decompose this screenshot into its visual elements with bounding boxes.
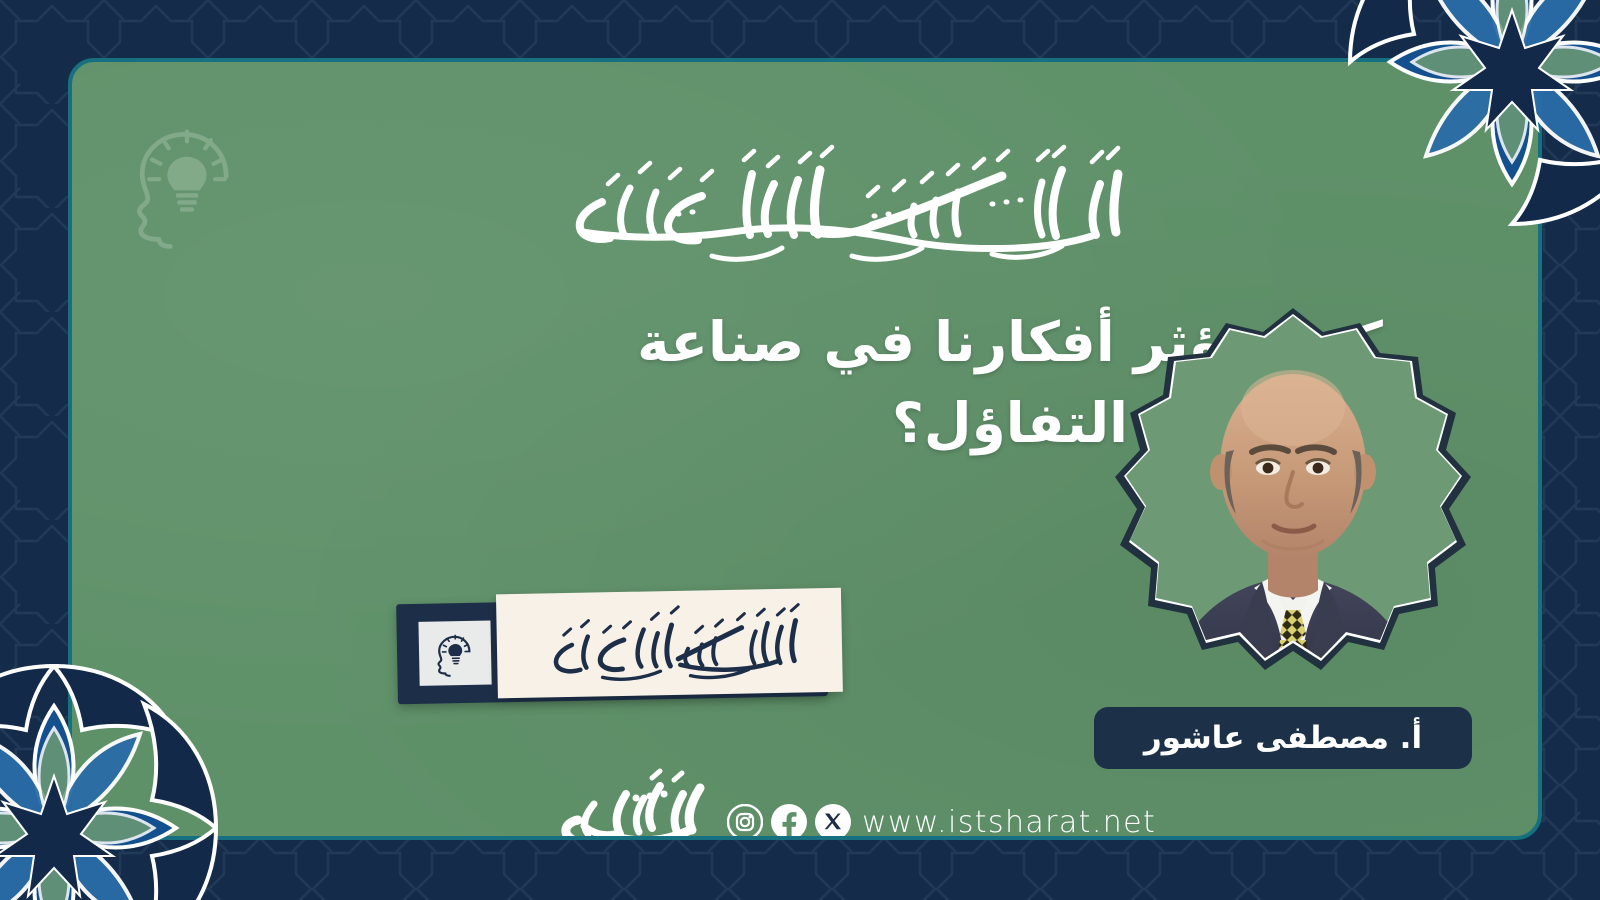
x-twitter-icon[interactable] <box>815 804 851 840</box>
portrait-photo <box>1102 300 1484 700</box>
portal-calligraphy-header: بوابة الاستشارات الإلكترونية <box>402 140 1162 280</box>
social-links <box>727 804 851 840</box>
head-lightbulb-icon <box>431 629 480 678</box>
speaker-name: أ. مصطفى عاشور <box>1144 720 1422 756</box>
rosette-ornament-bottom-left <box>0 648 234 900</box>
instagram-icon[interactable] <box>727 804 763 840</box>
istsharat-fikriya-logo-badge: استشارات فكرية <box>396 588 843 709</box>
main-card: بوابة الاستشارات الإلكترونية <box>68 58 1542 840</box>
logo-badge-calligraphy-panel: استشارات فكرية <box>496 588 843 699</box>
facebook-icon[interactable] <box>771 804 807 840</box>
rosette-ornament-top-right <box>1332 0 1600 242</box>
logo-badge-icon-box <box>418 620 491 685</box>
speaker-name-badge: أ. مصطفى عاشور <box>1094 707 1472 769</box>
speaker-portrait: صورة المتحدث <box>1102 300 1484 700</box>
poster-canvas: بوابة الاستشارات الإلكترونية <box>0 0 1600 900</box>
head-lightbulb-watermark-icon <box>112 112 262 252</box>
al-mujtama-logo[interactable]: المجتمع <box>540 764 730 840</box>
website-url[interactable]: www.istsharat.net <box>862 804 1156 840</box>
